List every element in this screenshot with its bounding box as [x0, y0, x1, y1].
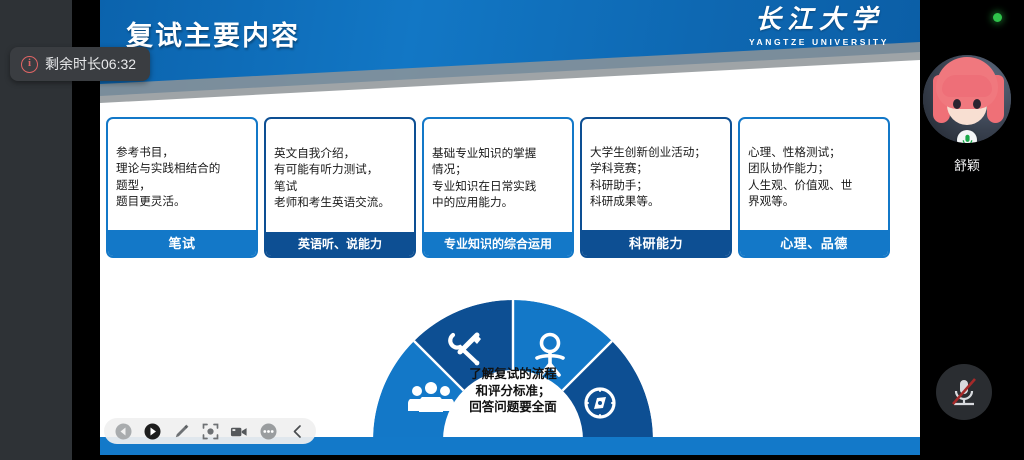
screenshot-button[interactable]: [201, 422, 219, 440]
card-label: 专业知识的综合运用: [424, 232, 572, 256]
card-label: 科研能力: [582, 230, 730, 256]
university-logo: 长江大学 YANGTZE UNIVERSITY: [726, 6, 912, 47]
card-label: 笔试: [108, 230, 256, 256]
card-body: 基础专业知识的掌握 情况； 专业知识在日常实践 中的应用能力。: [424, 119, 572, 232]
participant-name: 舒颖: [920, 155, 1014, 174]
recording-dot-icon: [993, 13, 1002, 22]
previous-slide-button[interactable]: [114, 422, 132, 440]
info-circle-icon: i: [21, 56, 38, 73]
slide-toolbar[interactable]: [104, 418, 316, 444]
content-card: 大学生创新创业活动； 学科竞赛； 科研助手； 科研成果等。 科研能力: [580, 117, 732, 258]
page-title: 复试主要内容: [126, 14, 300, 53]
record-button[interactable]: [230, 422, 248, 440]
card-label: 心理、品德: [740, 230, 888, 256]
mic-on-icon: [957, 130, 977, 143]
avatar-bangs: [942, 75, 992, 97]
card-body: 参考书目， 理论与实践相结合的 题型， 题目更灵活。: [108, 119, 256, 230]
remaining-time-label: 剩余时长06:32: [45, 54, 136, 74]
more-options-button[interactable]: [259, 422, 277, 440]
university-logo-cn: 长江大学: [726, 6, 912, 35]
avatar-eye-left: [953, 99, 961, 109]
participant-tile[interactable]: 舒颖: [920, 55, 1014, 174]
collapse-toolbar-button[interactable]: [288, 422, 306, 440]
content-card: 基础专业知识的掌握 情况； 专业知识在日常实践 中的应用能力。 专业知识的综合运…: [422, 117, 574, 258]
card-body: 心理、性格测试； 团队协作能力； 人生观、价值观、世 界观等。: [740, 119, 888, 230]
card-label: 英语听、说能力: [266, 232, 414, 256]
play-button[interactable]: [143, 422, 161, 440]
avatar[interactable]: [923, 55, 1011, 143]
annotate-button[interactable]: [172, 422, 190, 440]
mic-muted-icon[interactable]: [936, 364, 992, 420]
fan-center-text: 了解复试的流程 和评分标准； 回答问题要全面: [368, 366, 658, 416]
content-card: 心理、性格测试； 团队协作能力； 人生观、价值观、世 界观等。 心理、品德: [738, 117, 890, 258]
content-cards: 参考书目， 理论与实践相结合的 题型， 题目更灵活。 笔试 英文自我介绍， 有可…: [106, 117, 914, 258]
meeting-screen: 复试主要内容 长江大学 YANGTZE UNIVERSITY 参考书目， 理论与…: [0, 0, 1024, 460]
university-logo-en: YANGTZE UNIVERSITY: [726, 37, 912, 47]
avatar-eye-right: [973, 99, 981, 109]
card-body: 英文自我介绍， 有可能有听力测试， 笔试 老师和考生英语交流。: [266, 119, 414, 232]
content-card: 英文自我介绍， 有可能有听力测试， 笔试 老师和考生英语交流。 英语听、说能力: [264, 117, 416, 258]
shared-slide[interactable]: 复试主要内容 长江大学 YANGTZE UNIVERSITY 参考书目， 理论与…: [100, 0, 920, 455]
fan-diagram: 了解复试的流程 和评分标准； 回答问题要全面: [368, 290, 658, 440]
remaining-time-toast: i 剩余时长06:32: [10, 47, 150, 81]
content-card: 参考书目， 理论与实践相结合的 题型， 题目更灵活。 笔试: [106, 117, 258, 258]
card-body: 大学生创新创业活动； 学科竞赛； 科研助手； 科研成果等。: [582, 119, 730, 230]
